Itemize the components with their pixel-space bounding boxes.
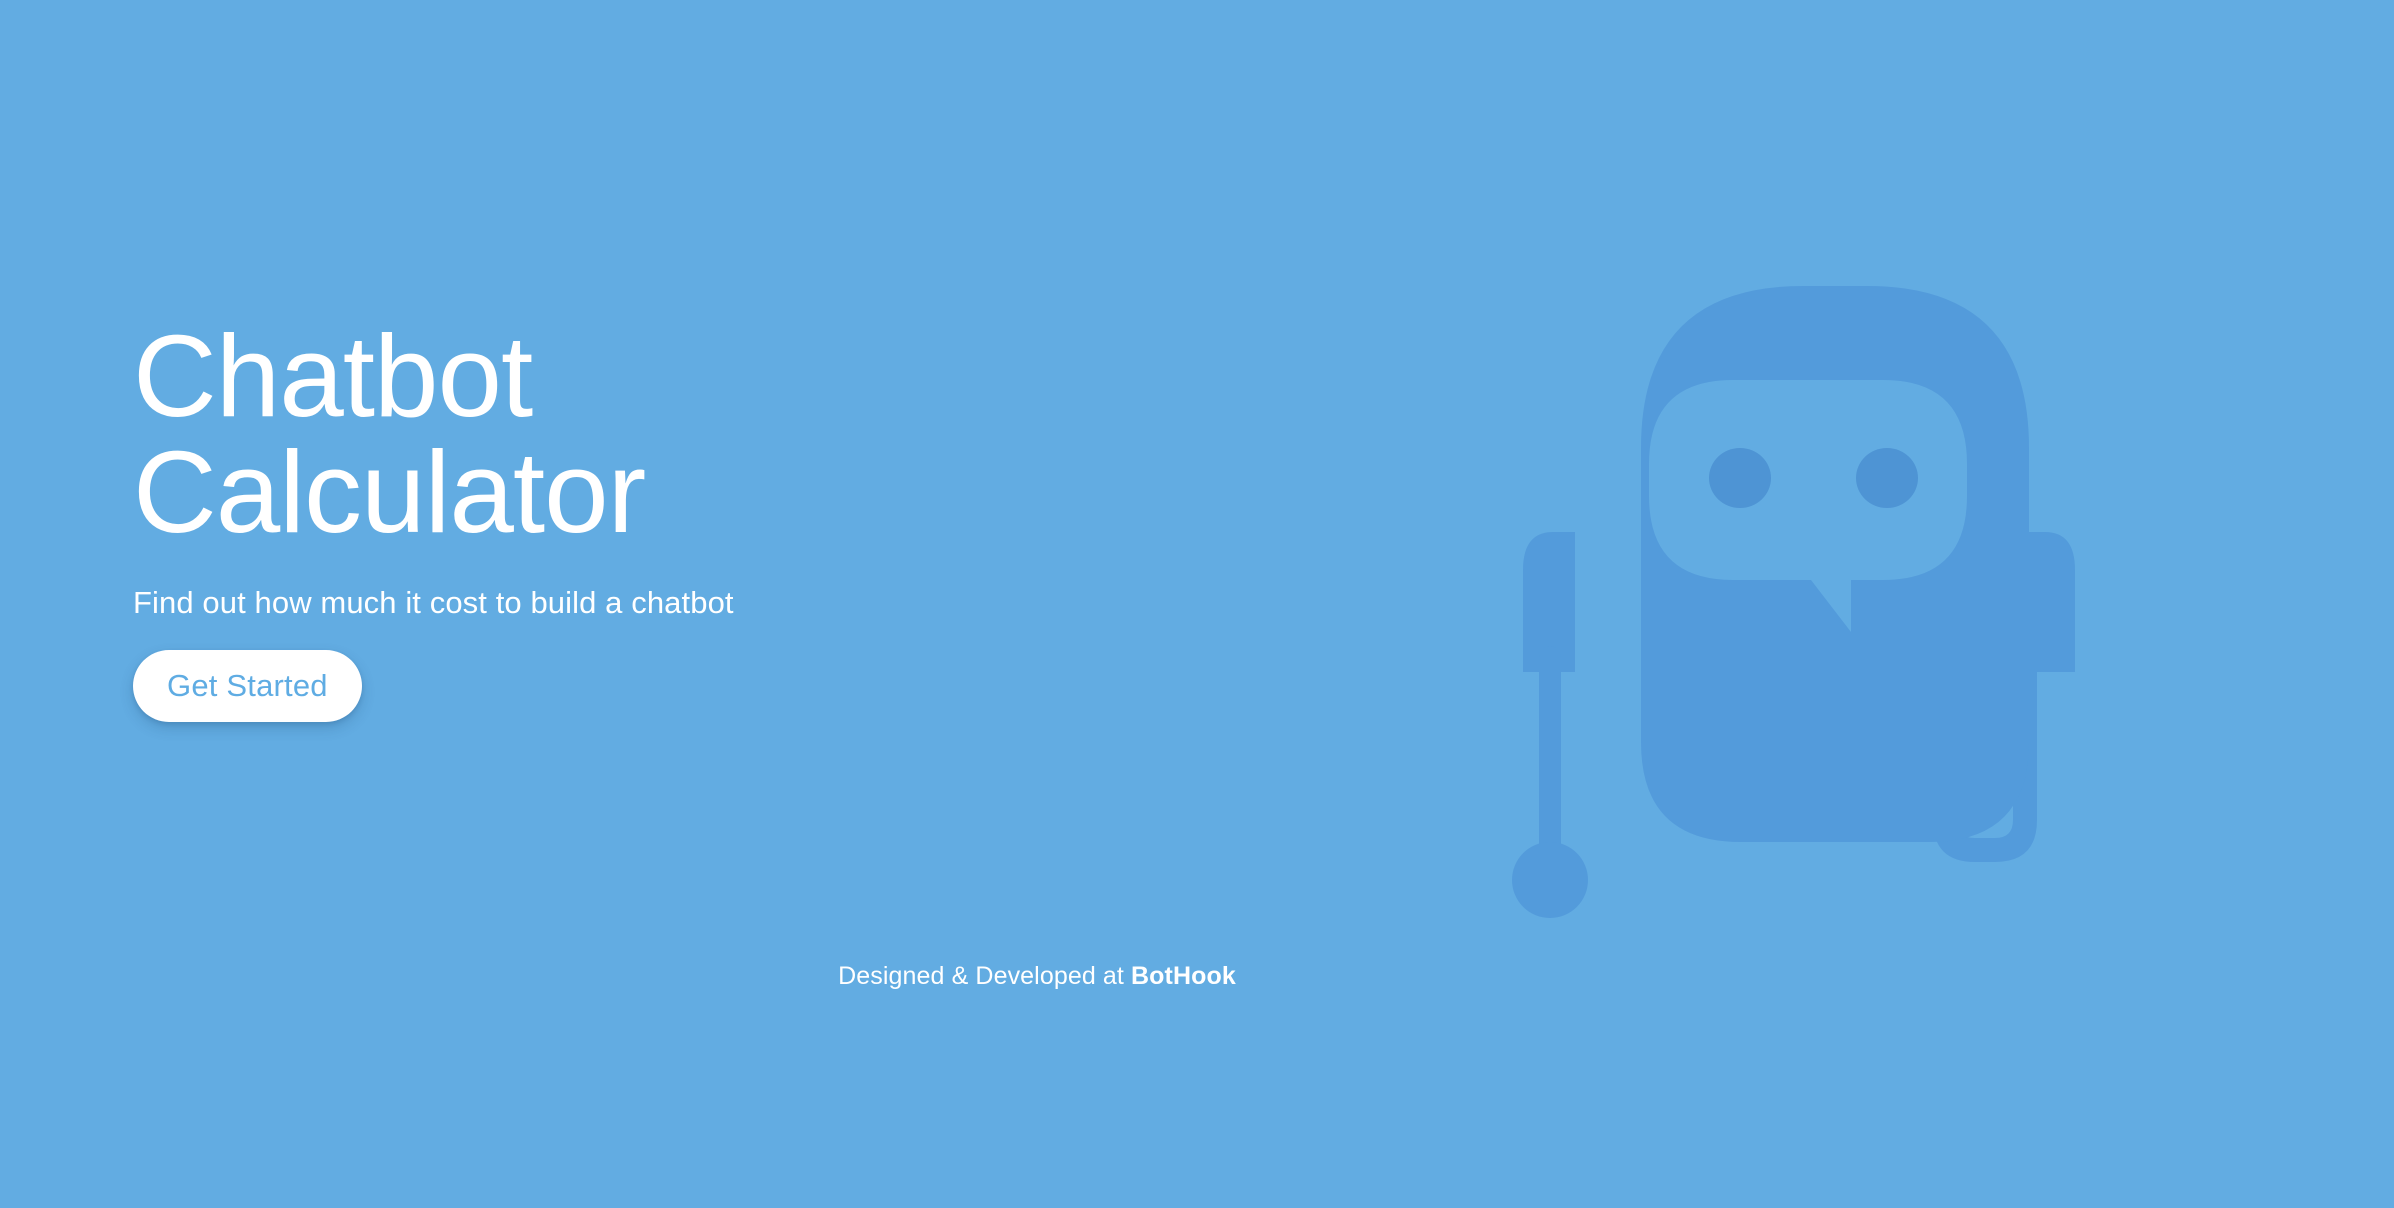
robot-left-eye: [1709, 448, 1771, 508]
footer-credit: Designed & Developed at BotHook: [0, 962, 2234, 991]
robot-face-speech-bubble: [1649, 380, 1967, 632]
hero-copy: Chatbot Calculator Find out how much it …: [133, 318, 1233, 722]
page-title: Chatbot Calculator: [133, 318, 1233, 550]
robot-body: [1641, 286, 2029, 842]
robot-right-arm-upper: [2023, 532, 2075, 672]
robot-left-hand: [1512, 842, 1588, 918]
robot-right-arm-hook: [1933, 646, 2037, 862]
robot-left-arm-upper: [1523, 532, 1575, 672]
robot-right-eye: [1856, 448, 1918, 508]
hero-subtitle: Find out how much it cost to build a cha…: [133, 584, 1233, 621]
robot-left-arm-forearm: [1539, 646, 1561, 872]
get-started-button[interactable]: Get Started: [133, 650, 362, 722]
hero-section: Chatbot Calculator Find out how much it …: [0, 0, 2394, 1208]
chatbot-robot-illustration: [1505, 270, 2145, 950]
footer-brand-name: BotHook: [1131, 962, 1236, 990]
footer-credit-prefix: Designed & Developed at: [838, 962, 1131, 990]
